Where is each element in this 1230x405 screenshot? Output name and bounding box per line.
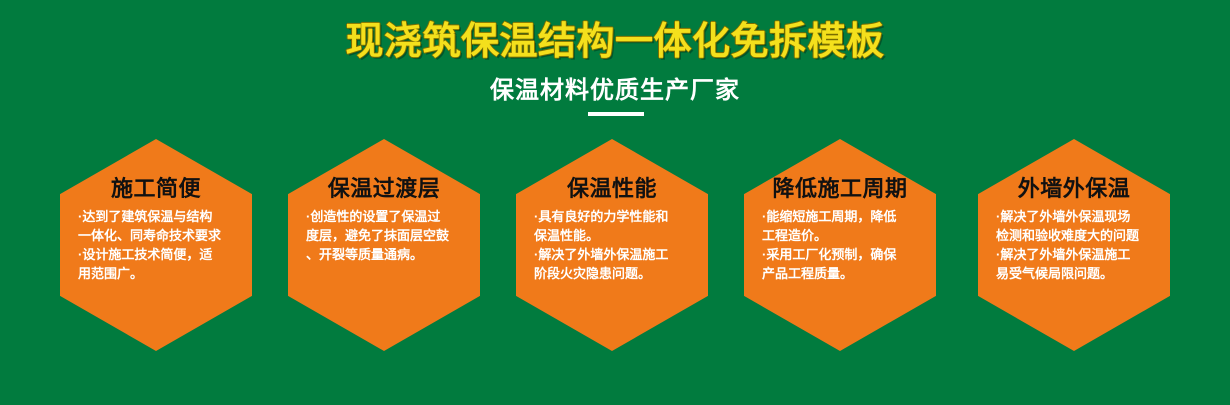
feature-line: ·解决了外墙外保温施工 <box>534 245 690 264</box>
feature-line: 工程造价。 <box>762 226 918 245</box>
feature-content: 保温性能 ·具有良好的力学性能和 保温性能。 ·解决了外墙外保温施工 阶段火灾隐… <box>516 139 708 351</box>
feature-content: 降低施工周期 ·能缩短施工周期，降低 工程造价。 ·采用工厂化预制，确保 产品工… <box>744 139 936 351</box>
feature-body: ·具有良好的力学性能和 保温性能。 ·解决了外墙外保温施工 阶段火灾隐患问题。 <box>526 207 698 283</box>
feature-title: 降低施工周期 <box>754 175 926 203</box>
feature-line: ·达到了建筑保温与结构 <box>78 207 234 226</box>
feature-hexagon-3[interactable]: 保温性能 ·具有良好的力学性能和 保温性能。 ·解决了外墙外保温施工 阶段火灾隐… <box>516 139 708 351</box>
feature-line: 易受气候局限问题。 <box>996 264 1152 283</box>
feature-content: 保温过渡层 ·创造性的设置了保温过 度层，避免了抹面层空鼓 、开裂等质量通病。 <box>288 139 480 351</box>
feature-hexagon-1[interactable]: 施工简便 ·达到了建筑保温与结构 一体化、同寿命技术要求 ·设计施工技术简便，适… <box>60 139 252 351</box>
feature-body: ·达到了建筑保温与结构 一体化、同寿命技术要求 ·设计施工技术简便，适 用范围广… <box>70 207 242 283</box>
feature-body: ·能缩短施工周期，降低 工程造价。 ·采用工厂化预制，确保 产品工程质量。 <box>754 207 926 283</box>
feature-title: 保温性能 <box>526 175 698 203</box>
feature-line: ·创造性的设置了保温过 <box>306 207 462 226</box>
feature-line: 产品工程质量。 <box>762 264 918 283</box>
feature-line: 、开裂等质量通病。 <box>306 245 462 264</box>
feature-line: ·设计施工技术简便，适 <box>78 245 234 264</box>
feature-hexagon-5[interactable]: 外墙外保温 ·解决了外墙外保温现场 检测和验收难度大的问题 ·解决了外墙外保温施… <box>978 139 1170 351</box>
feature-line: 一体化、同寿命技术要求 <box>78 226 234 245</box>
page-title: 现浇筑保温结构一体化免拆模板 <box>0 18 1230 66</box>
feature-line: ·解决了外墙外保温施工 <box>996 245 1152 264</box>
feature-line: 用范围广。 <box>78 264 234 283</box>
feature-title: 保温过渡层 <box>298 175 470 203</box>
page-subtitle: 保温材料优质生产厂家 <box>0 76 1230 106</box>
feature-hexagon-2[interactable]: 保温过渡层 ·创造性的设置了保温过 度层，避免了抹面层空鼓 、开裂等质量通病。 <box>288 139 480 351</box>
feature-title: 外墙外保温 <box>988 175 1160 203</box>
feature-line: ·能缩短施工周期，降低 <box>762 207 918 226</box>
feature-line: 保温性能。 <box>534 226 690 245</box>
feature-hexagon-row: 施工简便 ·达到了建筑保温与结构 一体化、同寿命技术要求 ·设计施工技术简便，适… <box>0 139 1230 351</box>
feature-hexagon-4[interactable]: 降低施工周期 ·能缩短施工周期，降低 工程造价。 ·采用工厂化预制，确保 产品工… <box>744 139 936 351</box>
feature-line: 阶段火灾隐患问题。 <box>534 264 690 283</box>
feature-content: 外墙外保温 ·解决了外墙外保温现场 检测和验收难度大的问题 ·解决了外墙外保温施… <box>978 139 1170 351</box>
banner-header: 现浇筑保温结构一体化免拆模板 保温材料优质生产厂家 <box>0 0 1230 128</box>
promo-banner: 现浇筑保温结构一体化免拆模板 保温材料优质生产厂家 施工简便 ·达到了建筑保温与… <box>0 0 1230 405</box>
feature-line: 检测和验收难度大的问题 <box>996 226 1152 245</box>
title-divider <box>588 112 644 116</box>
feature-line: ·具有良好的力学性能和 <box>534 207 690 226</box>
feature-body: ·解决了外墙外保温现场 检测和验收难度大的问题 ·解决了外墙外保温施工 易受气候… <box>988 207 1160 283</box>
feature-line: ·解决了外墙外保温现场 <box>996 207 1152 226</box>
feature-title: 施工简便 <box>70 175 242 203</box>
feature-line: ·采用工厂化预制，确保 <box>762 245 918 264</box>
feature-line: 度层，避免了抹面层空鼓 <box>306 226 462 245</box>
feature-body: ·创造性的设置了保温过 度层，避免了抹面层空鼓 、开裂等质量通病。 <box>298 207 470 264</box>
feature-content: 施工简便 ·达到了建筑保温与结构 一体化、同寿命技术要求 ·设计施工技术简便，适… <box>60 139 252 351</box>
